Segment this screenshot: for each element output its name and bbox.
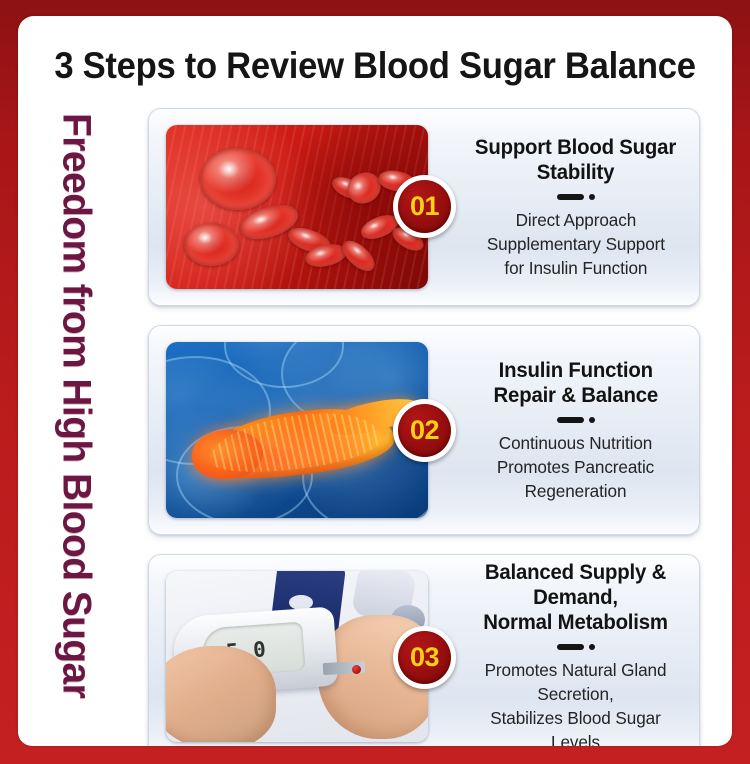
step-card-01[interactable]: Support Blood Sugar Stability Direct App… (148, 108, 700, 306)
glucose-meter-photo: 5.0 (166, 571, 428, 742)
divider-bar-icon (557, 417, 584, 423)
step-badge-02: 02 (393, 399, 456, 462)
side-headline-text: Freedom from High Blood Sugar (54, 113, 99, 698)
blood-drop-shape (352, 665, 361, 674)
step-badge-inner: 02 (398, 404, 451, 457)
divider-bar-icon (557, 194, 584, 200)
page-title: 3 Steps to Review Blood Sugar Balance (41, 44, 709, 88)
divider-dash-dot (557, 194, 595, 200)
step-text-03: Balanced Supply & Demand, Normal Metabol… (428, 555, 699, 746)
step-body-line: for Insulin Function (486, 256, 664, 280)
step-number-03: 03 (410, 644, 439, 671)
step-body-03: Promotes Natural Gland Secretion, Stabil… (466, 658, 685, 747)
step-body-02: Continuous Nutrition Promotes Pancreatic… (466, 431, 685, 503)
step-body-line: Direct Approach (486, 208, 664, 232)
side-headline: Freedom from High Blood Sugar (18, 104, 136, 724)
divider-dash-dot (557, 417, 595, 423)
step-badge-inner: 01 (398, 180, 451, 233)
pancreas-anatomy-photo (166, 342, 428, 518)
step-text-02: Insulin Function Repair & Balance Contin… (428, 326, 699, 534)
divider-dot-icon (589, 194, 595, 200)
step-text-01: Support Blood Sugar Stability Direct App… (428, 109, 699, 305)
step-body-line: Stabilizes Blood Sugar Levels (466, 706, 685, 747)
step-heading-line: Normal Metabolism (467, 610, 683, 635)
step-number-01: 01 (410, 193, 439, 220)
left-thumb-shape (166, 646, 276, 742)
infographic-page: 3 Steps to Review Blood Sugar Balance Fr… (18, 16, 732, 746)
step-badge-03: 03 (393, 626, 456, 689)
step-heading-01: Support Blood Sugar Stability (467, 135, 683, 185)
step-body-line: Continuous Nutrition (466, 431, 685, 455)
step-heading-line: Balanced Supply & Demand, (467, 560, 683, 610)
step-body-01: Direct Approach Supplementary Support fo… (486, 208, 664, 280)
step-body-line: Supplementary Support (486, 232, 664, 256)
step-badge-inner: 03 (398, 631, 451, 684)
step-heading-line: Insulin Function (493, 358, 657, 383)
steps-list: Support Blood Sugar Stability Direct App… (148, 108, 732, 746)
step-heading-03: Balanced Supply & Demand, Normal Metabol… (467, 560, 683, 635)
divider-dash-dot (557, 644, 595, 650)
divider-dot-icon (589, 417, 595, 423)
step-number-02: 02 (410, 417, 439, 444)
divider-bar-icon (557, 644, 584, 650)
divider-dot-icon (589, 644, 595, 650)
step-body-line: Promotes Natural Gland Secretion, (466, 658, 685, 706)
red-blood-cells-in-vessel-photo (166, 125, 428, 289)
step-heading-02: Insulin Function Repair & Balance (493, 358, 657, 408)
step-badge-01: 01 (393, 175, 456, 238)
step-card-02[interactable]: Insulin Function Repair & Balance Contin… (148, 325, 700, 535)
step-heading-line: Repair & Balance (493, 383, 657, 408)
step-body-line: Promotes Pancreatic Regeneration (466, 455, 685, 503)
step-card-03[interactable]: 5.0 Balanced Supply & Demand, Normal Met… (148, 554, 700, 746)
